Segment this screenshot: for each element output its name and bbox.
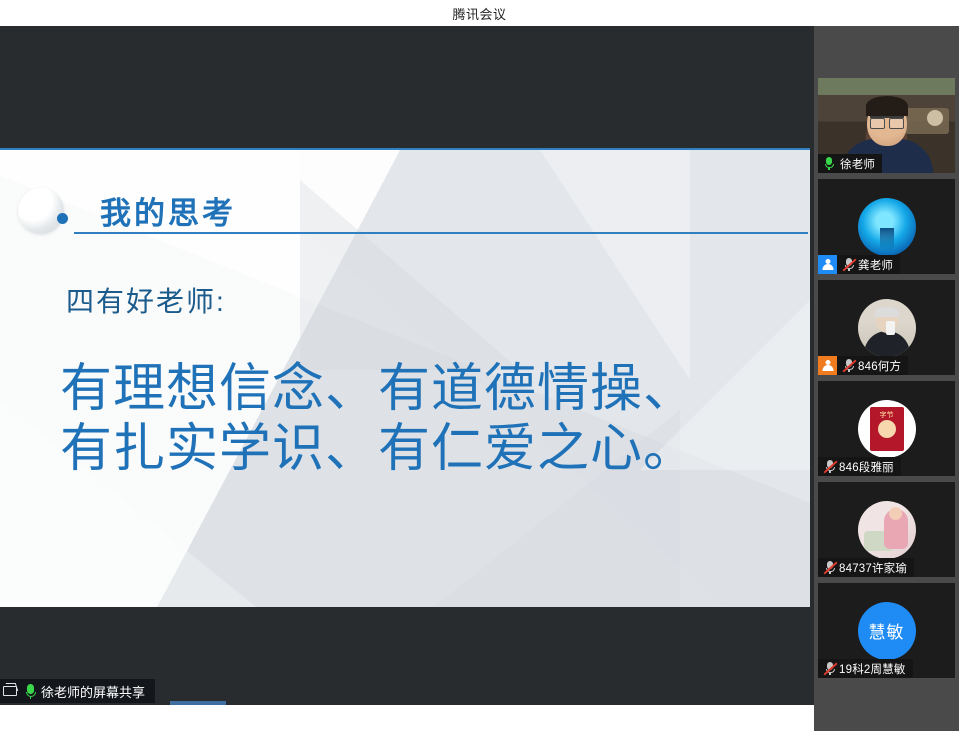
participant-name: 84737许家瑜 [839, 560, 907, 576]
participant-label: 846段雅丽 [818, 457, 901, 476]
window-title-bar: 腾讯会议 [0, 0, 959, 26]
participant-label: 徐老师 [818, 154, 882, 173]
participant-filmstrip[interactable]: 徐老师 龚老师 [814, 26, 959, 731]
shared-screen-stage[interactable]: 我的思考 四有好老师: 有理想信念、有道德情操、 有扎实学识、有仁爱之心。 徐老… [0, 26, 814, 705]
slide-body-line-1: 有理想信念、有道德情操、 [60, 360, 696, 420]
decorative-sphere [18, 188, 64, 234]
participant-name: 846段雅丽 [839, 459, 894, 475]
meeting-window: 腾讯会议 我的思考 四有好老师: 有理想信念、有道德情操、 有扎实学识、有仁爱之… [0, 0, 959, 731]
participant-tile[interactable]: 84737许家瑜 [818, 482, 955, 577]
avatar-image: 字节 [858, 400, 916, 458]
avatar-image [858, 299, 916, 357]
screen-share-icon [3, 684, 20, 699]
participant-name: 龚老师 [858, 257, 893, 273]
mic-badge [818, 154, 837, 173]
participant-label: 846何方 [818, 356, 908, 375]
participant-tile[interactable]: 徐老师 [818, 78, 955, 173]
slide-body: 有理想信念、有道德情操、 有扎实学识、有仁爱之心。 [60, 360, 696, 480]
presentation-slide: 我的思考 四有好老师: 有理想信念、有道德情操、 有扎实学识、有仁爱之心。 [0, 148, 810, 607]
mic-muted-icon [824, 459, 836, 474]
share-status-label: 徐老师的屏幕共享 [41, 682, 145, 701]
participant-name: 徐老师 [840, 156, 875, 172]
slide-body-line-2: 有扎实学识、有仁爱之心。 [60, 420, 696, 480]
participant-tile[interactable]: 字节 846段雅丽 [818, 381, 955, 476]
participant-label: 19科2周慧敏 [818, 659, 913, 678]
participant-label: 84737许家瑜 [818, 558, 914, 577]
mic-muted-icon [843, 358, 855, 373]
avatar-text: 字节 [880, 410, 894, 420]
slide-title-rule [74, 232, 808, 234]
slide-subtitle: 四有好老师: [66, 280, 226, 320]
mic-on-icon [24, 683, 37, 699]
mic-muted-icon [824, 560, 836, 575]
participant-tile[interactable]: 846何方 [818, 280, 955, 375]
decorative-dot [57, 213, 68, 224]
mic-muted-icon [824, 661, 836, 676]
avatar-image [858, 501, 916, 559]
mic-muted-icon [843, 257, 855, 272]
horizontal-scrollbar[interactable] [170, 701, 226, 705]
slide-title: 我的思考 [100, 188, 236, 233]
participant-label: 龚老师 [818, 255, 900, 274]
app-title: 腾讯会议 [452, 4, 506, 23]
share-status-bar: 徐老师的屏幕共享 [0, 679, 155, 703]
mic-on-icon [823, 156, 835, 171]
participant-tile[interactable]: 龚老师 [818, 179, 955, 274]
avatar-initials: 慧敏 [858, 602, 916, 660]
participant-tile[interactable]: 慧敏 19科2周慧敏 [818, 583, 955, 678]
participant-name: 846何方 [858, 358, 901, 374]
participant-name: 19科2周慧敏 [839, 661, 906, 677]
person-icon [818, 255, 837, 274]
avatar-image [858, 198, 916, 256]
stage-letterbox-top [0, 26, 814, 148]
person-icon [818, 356, 837, 375]
slide-facet [300, 180, 520, 370]
